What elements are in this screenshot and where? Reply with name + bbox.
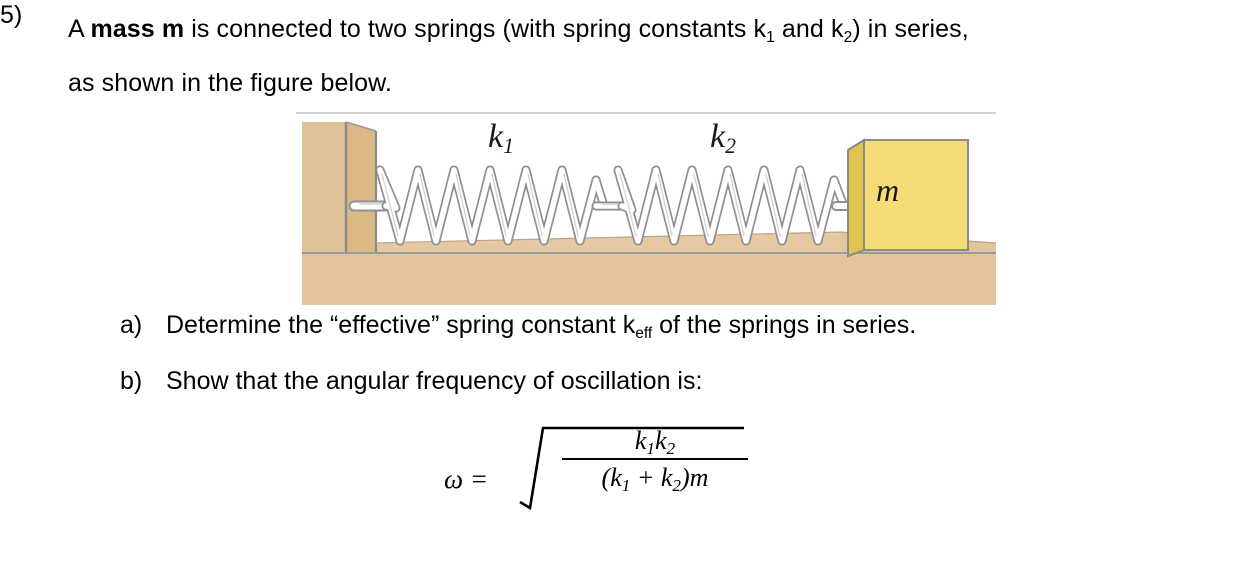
- statement-end: ) in series,: [852, 15, 969, 43]
- spring-one-label: k1: [488, 118, 514, 156]
- part-a-text-post: of the springs in series.: [652, 311, 916, 339]
- problem-number: 5): [0, 0, 22, 30]
- spring-one-label-text: k: [488, 118, 503, 155]
- angular-frequency-equation: ω = k1k2 (k1 + k2)m: [440, 420, 770, 538]
- numerator-k2: k: [655, 426, 667, 455]
- part-a-text-pre: Determine the “effective” spring constan…: [166, 311, 635, 339]
- numerator-k1-subscript: 1: [646, 439, 655, 458]
- spring-two: [618, 170, 844, 241]
- numerator-k2-subscript: 2: [667, 439, 676, 458]
- spring-one: [380, 170, 604, 241]
- statement-mid: is connected to two springs (with spring…: [184, 15, 766, 43]
- statement-k2-subscript: 2: [844, 29, 853, 46]
- spring-two-label-subscript: 2: [725, 134, 736, 158]
- denominator-k2-subscript: 2: [672, 476, 681, 495]
- equation-fraction: k1k2 (k1 + k2)m: [562, 426, 748, 493]
- part-a-keff-subscript: eff: [635, 325, 652, 342]
- problem-number-text: 5): [0, 1, 22, 29]
- problem-statement-line-1: A mass m is connected to two springs (wi…: [68, 14, 969, 48]
- denominator-open: (k: [602, 463, 622, 492]
- spring-one-label-subscript: 1: [503, 134, 514, 158]
- statement-mid2: and k: [775, 15, 844, 43]
- denominator-k1-subscript: 1: [622, 476, 631, 495]
- spring-two-label: k2: [710, 118, 736, 156]
- statement-bold-mass-m: mass m: [90, 15, 184, 43]
- equation-numerator: k1k2: [562, 426, 748, 458]
- part-a-text: Determine the “effective” spring constan…: [166, 310, 916, 344]
- omega-equals: ω =: [444, 464, 488, 495]
- mass-block: [848, 140, 968, 256]
- spring-mass-figure: k1 k2 m: [296, 110, 1002, 305]
- part-a-label: a): [120, 310, 142, 340]
- mass-block-label: m: [876, 172, 899, 209]
- numerator-k1: k: [635, 426, 647, 455]
- part-b-label: b): [120, 366, 142, 396]
- denominator-close: )m: [681, 463, 708, 492]
- denominator-plus: + k: [630, 463, 672, 492]
- statement-k1-subscript: 1: [766, 29, 775, 46]
- statement-pre: A: [68, 15, 90, 43]
- equation-denominator: (k1 + k2)m: [562, 460, 748, 493]
- part-b-text: Show that the angular frequency of oscil…: [166, 366, 702, 396]
- problem-statement-line-2: as shown in the figure below.: [68, 68, 392, 98]
- spring-two-label-text: k: [710, 118, 725, 155]
